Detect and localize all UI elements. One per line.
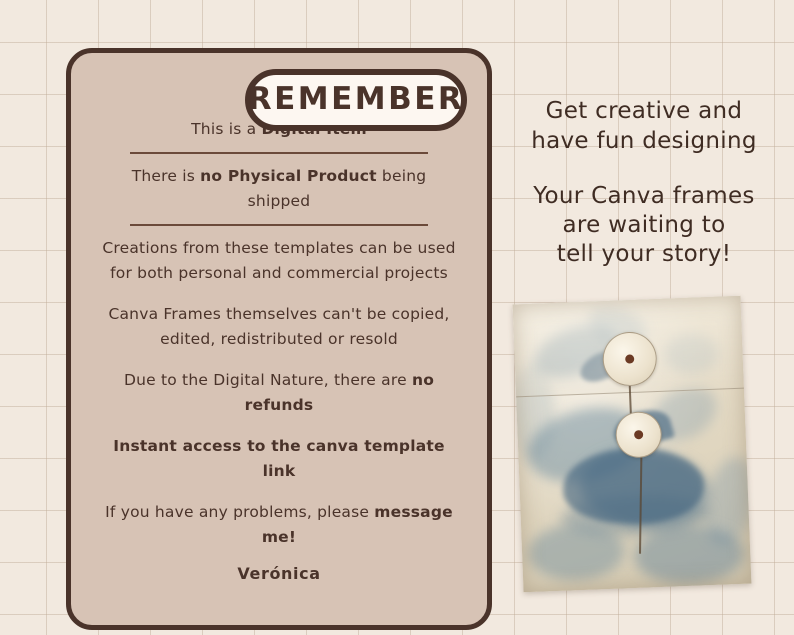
seaweed-blot xyxy=(527,522,625,582)
headline-line-2: have fun designing xyxy=(500,126,788,156)
headline-line-1: Get creative and xyxy=(500,96,788,126)
button-rivet xyxy=(625,354,634,363)
note-problems: If you have any problems, please message… xyxy=(97,492,461,558)
whale-envelope-photo xyxy=(513,296,752,593)
note-frames-rights: Canva Frames themselves can't be copied,… xyxy=(97,294,461,360)
remember-card: REMEMBER This is a Digital Item There is… xyxy=(66,48,492,630)
remember-card-body: This is a Digital Item There is no Physi… xyxy=(71,109,487,583)
headline-line-4: are waiting to xyxy=(500,211,788,240)
headline-block-2: Your Canva frames are waiting to tell yo… xyxy=(500,182,788,269)
poster-canvas: REMEMBER This is a Digital Item There is… xyxy=(0,0,794,635)
headline-line-3: Your Canva frames xyxy=(500,182,788,211)
remember-banner-label: REMEMBER xyxy=(248,84,465,117)
envelope-paper xyxy=(513,296,752,593)
right-column: Get creative and have fun designing Your… xyxy=(500,96,788,269)
button-rivet xyxy=(634,430,643,439)
headline-block-1: Get creative and have fun designing xyxy=(500,96,788,156)
note-instant-access: Instant access to the canva template lin… xyxy=(97,426,461,492)
divider xyxy=(130,224,428,226)
divider xyxy=(130,152,428,154)
signature: Verónica xyxy=(97,564,461,583)
note-no-refunds: Due to the Digital Nature, there are no … xyxy=(97,360,461,426)
note-usage: Creations from these templates can be us… xyxy=(97,228,461,294)
headline-line-5: tell your story! xyxy=(500,240,788,269)
note-no-physical: There is no Physical Product being shipp… xyxy=(97,156,461,222)
remember-banner: REMEMBER xyxy=(245,69,467,131)
